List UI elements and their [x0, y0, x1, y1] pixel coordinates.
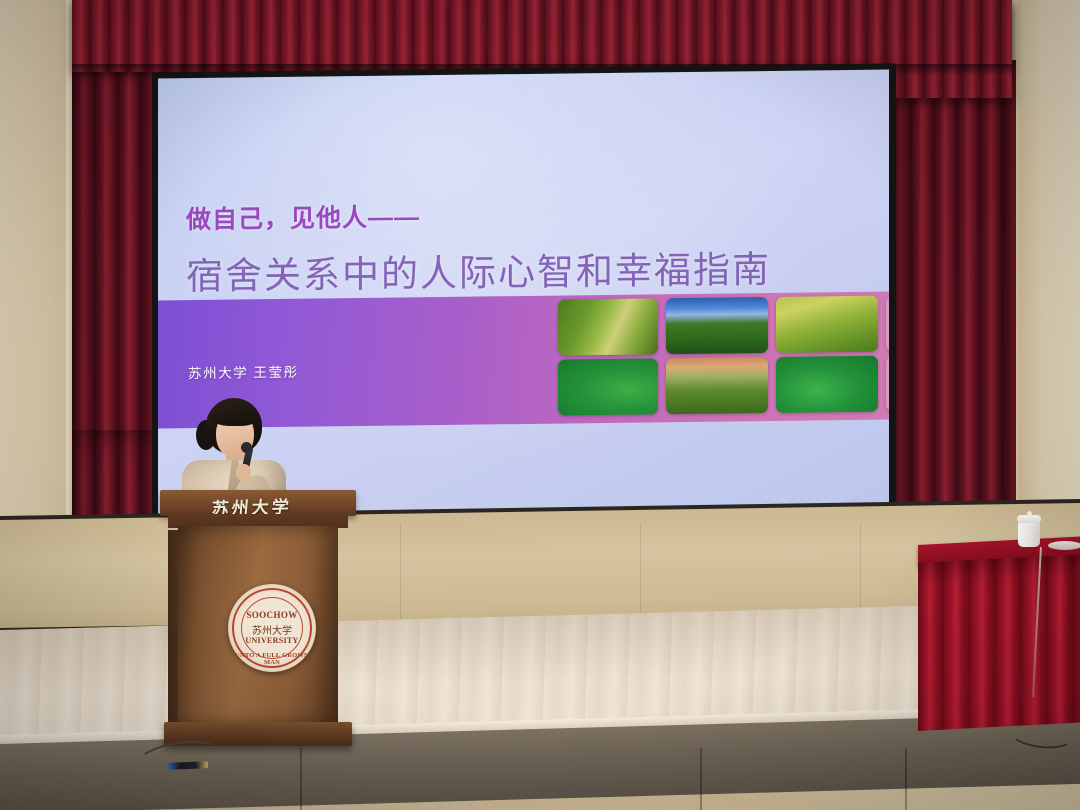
thumbnail-ripe-wheat-field	[776, 296, 878, 353]
stage-front-seam-3	[905, 748, 907, 810]
teacup-lid-knob	[1027, 511, 1032, 517]
emblem-motto: UNTO A FULL GROWN MAN	[228, 652, 316, 666]
thumbnail-rice-ear-closeup	[558, 298, 658, 355]
speaker-hair-fringe	[212, 408, 258, 426]
wall-seam-1	[400, 523, 401, 628]
podium-name-plate: 苏州大学	[211, 491, 333, 514]
emblem-english-top: SOOCHOW	[228, 610, 316, 620]
slide-title-line1: 做自己，见他人——	[186, 192, 876, 236]
thumbnail-field-with-drone	[666, 297, 768, 354]
presentation-clicker	[168, 761, 208, 769]
speaker-hand	[236, 464, 251, 481]
teacup-body	[1018, 521, 1040, 547]
skirted-table	[918, 545, 1080, 730]
microphone-head-icon	[241, 442, 252, 453]
saucer	[1048, 541, 1080, 550]
teacup	[1018, 513, 1040, 547]
thumbnail-green-block-left	[558, 358, 658, 415]
stage-front-seam-2	[700, 748, 702, 810]
wall-panel-right	[1018, 0, 1080, 520]
auditorium-photo: 做自己，见他人—— 宿舍关系中的人际心智和幸福指南 苏州大学 王莹彤	[0, 0, 1080, 810]
podium-top-surface: 苏州大学	[160, 490, 356, 516]
slide-thumbnail-grid	[558, 293, 889, 421]
thumbnail-sunset-farmland	[666, 357, 768, 414]
emblem-chinese: 苏州大学	[228, 622, 316, 637]
slide-title-line2: 宿舍关系中的人际心智和幸福指南	[186, 238, 876, 300]
thumbnail-blank-placeholder-bottom	[886, 355, 889, 412]
table-skirt	[918, 555, 1080, 731]
emblem-english-bottom: UNIVERSITY	[228, 636, 316, 645]
slide-author-line: 苏州大学 王莹彤	[188, 361, 299, 382]
thumbnail-green-block-right	[776, 356, 878, 413]
slide-title-block: 做自己，见他人—— 宿舍关系中的人际心智和幸福指南	[186, 192, 876, 300]
university-emblem-icon: SOOCHOW 苏州大学 UNIVERSITY UNTO A FULL GROW…	[228, 584, 316, 672]
lectern-podium: 苏州大学 SOOCHOW 苏州大学 UNIVERSITY UNTO A FULL…	[160, 490, 356, 760]
thumbnail-blank-placeholder-top	[886, 295, 889, 352]
